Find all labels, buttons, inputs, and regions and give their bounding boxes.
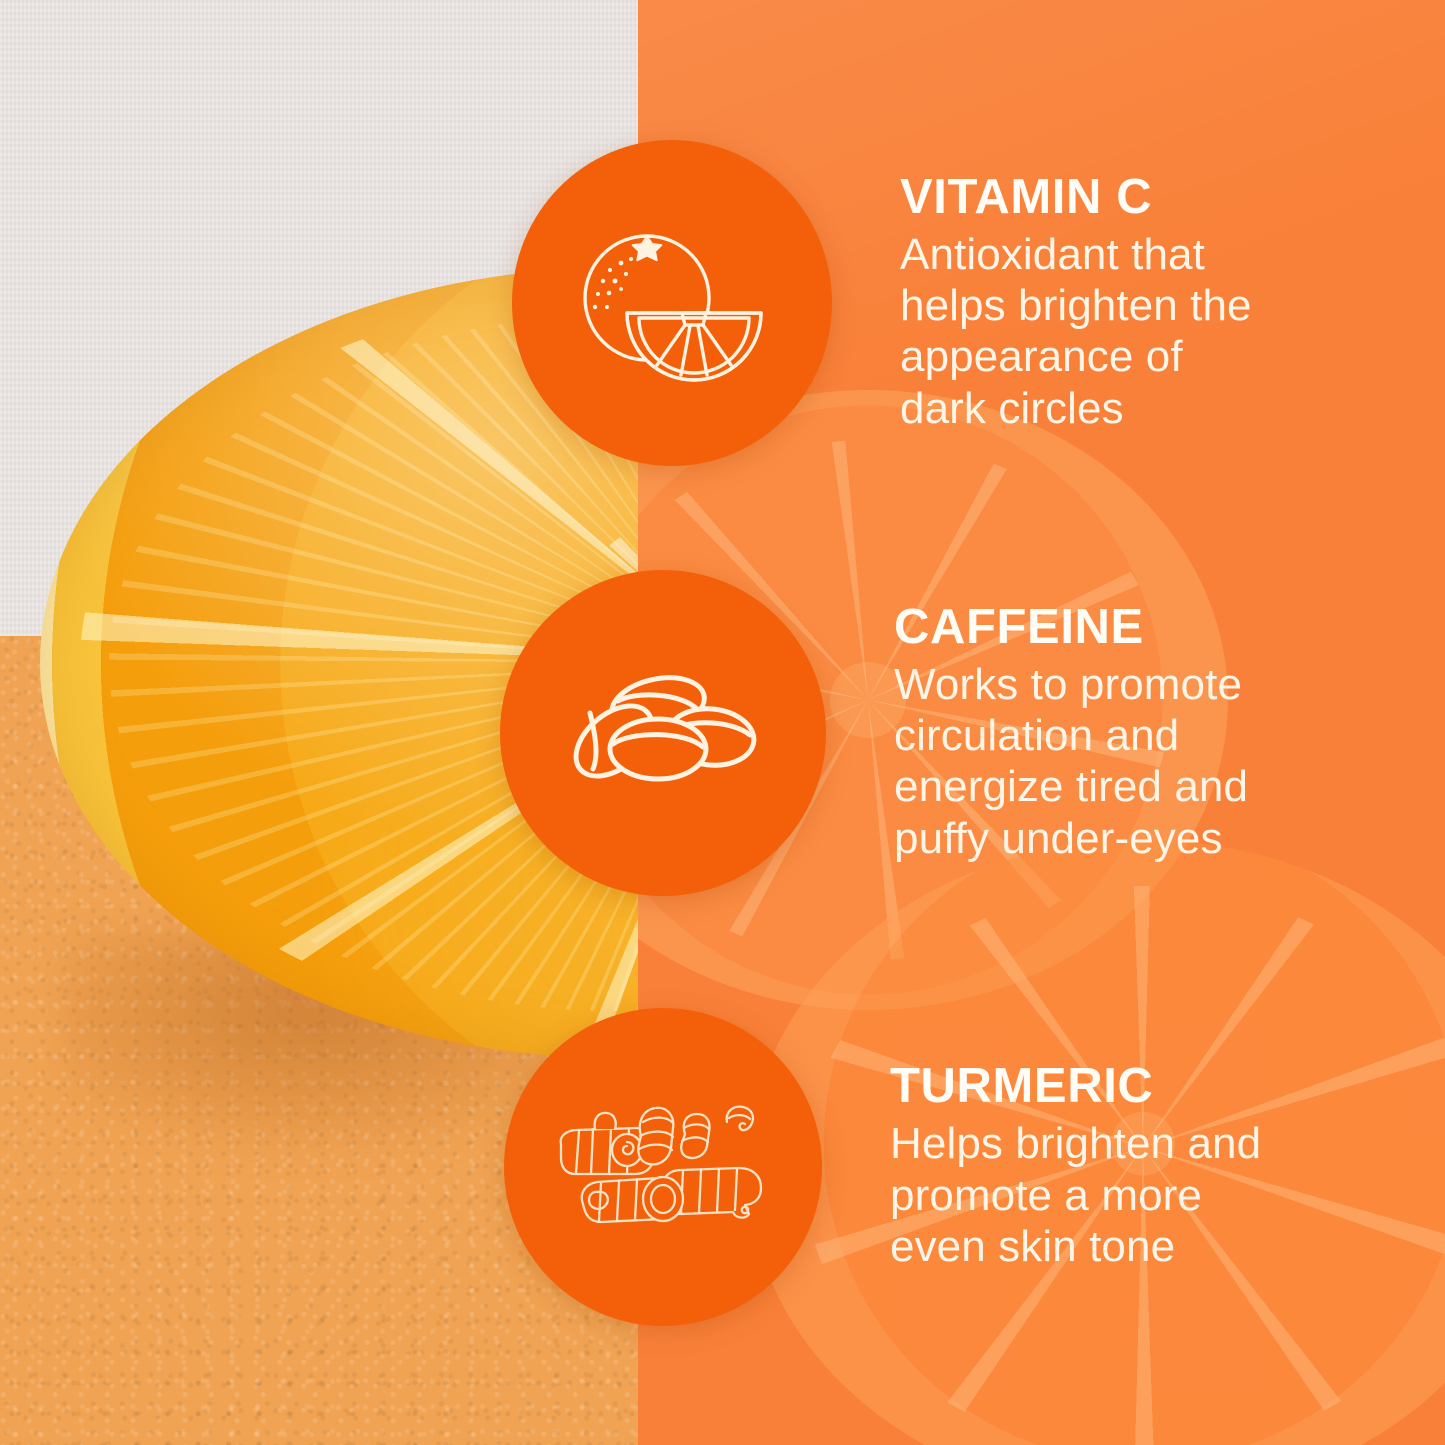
description-line: Works to promote <box>894 659 1419 710</box>
ingredient-heading: TURMERIC <box>890 1061 1419 1112</box>
description-line: even skin tone <box>890 1221 1419 1272</box>
copy-block-turmeric: TURMERIC Helps brighten and promote a mo… <box>822 1061 1445 1272</box>
description-line: dark circles <box>900 383 1419 434</box>
coffee-beans-icon <box>563 671 763 796</box>
ingredient-description: Antioxidant that helps brighten the appe… <box>900 229 1419 435</box>
orange-fruit-icon <box>565 218 780 388</box>
description-line: helps brighten the <box>900 280 1419 331</box>
description-line: Antioxidant that <box>900 229 1419 280</box>
description-line: Helps brighten and <box>890 1118 1419 1169</box>
description-line: puffy under-eyes <box>894 813 1419 864</box>
ingredient-row-vitamin-c: VITAMIN C Antioxidant that helps brighte… <box>0 140 1445 466</box>
ingredient-description: Works to promote circulation and energiz… <box>894 659 1419 865</box>
description-line: appearance of <box>900 331 1419 382</box>
ingredient-heading: VITAMIN C <box>900 172 1419 223</box>
badge-circle-vitamin-c <box>512 140 832 466</box>
ingredient-row-caffeine: CAFFEINE Works to promote circulation an… <box>0 570 1445 896</box>
ingredient-row-turmeric: TURMERIC Helps brighten and promote a mo… <box>0 1008 1445 1326</box>
ingredient-description: Helps brighten and promote a more even s… <box>890 1118 1419 1272</box>
badge-circle-turmeric <box>504 1008 822 1326</box>
turmeric-root-icon <box>549 1092 777 1242</box>
badge-circle-caffeine <box>500 570 826 896</box>
description-line: circulation and <box>894 710 1419 761</box>
description-line: energize tired and <box>894 761 1419 812</box>
copy-block-caffeine: CAFFEINE Works to promote circulation an… <box>826 602 1445 865</box>
ingredient-benefits-infographic: VITAMIN C Antioxidant that helps brighte… <box>0 0 1445 1445</box>
copy-block-vitamin-c: VITAMIN C Antioxidant that helps brighte… <box>832 172 1445 435</box>
description-line: promote a more <box>890 1170 1419 1221</box>
ingredient-heading: CAFFEINE <box>894 602 1419 653</box>
